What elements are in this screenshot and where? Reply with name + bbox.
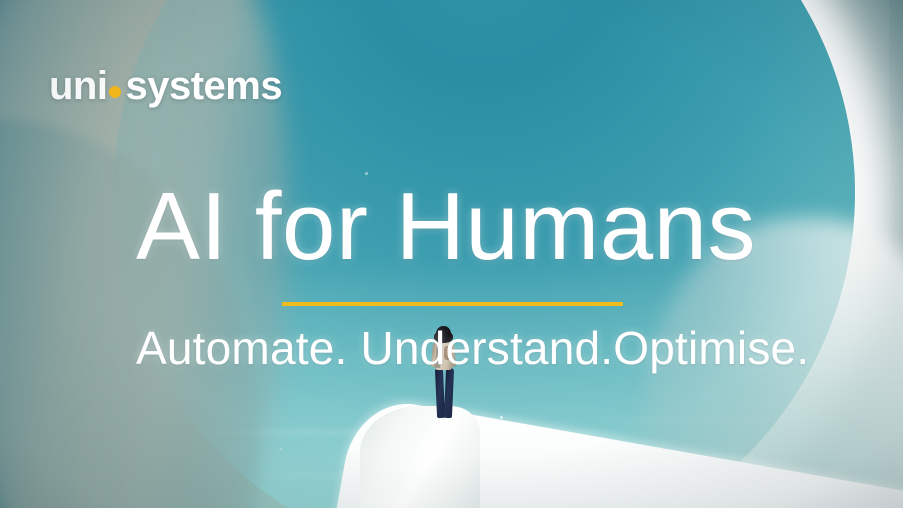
hero-banner: uni systems AI for Humans Automate. Unde… (0, 0, 903, 508)
person-right-leg (444, 368, 454, 418)
logo-text-uni: uni (49, 64, 107, 109)
page-title: AI for Humans (136, 178, 836, 276)
ledge-nose (360, 406, 480, 508)
sparkle-mote (280, 448, 282, 450)
sparkle-mote (660, 455, 663, 458)
headline-block: AI for Humans Automate. Understand.Optim… (136, 178, 836, 372)
logo-text-systems: systems (125, 64, 282, 109)
page-subtitle: Automate. Understand.Optimise. (136, 324, 836, 372)
sparkle-mote (500, 416, 503, 419)
sparkle-mote (574, 437, 577, 440)
yellow-divider (282, 302, 623, 306)
uni-systems-logo[interactable]: uni systems (49, 64, 282, 109)
logo-dot-icon (109, 86, 121, 98)
